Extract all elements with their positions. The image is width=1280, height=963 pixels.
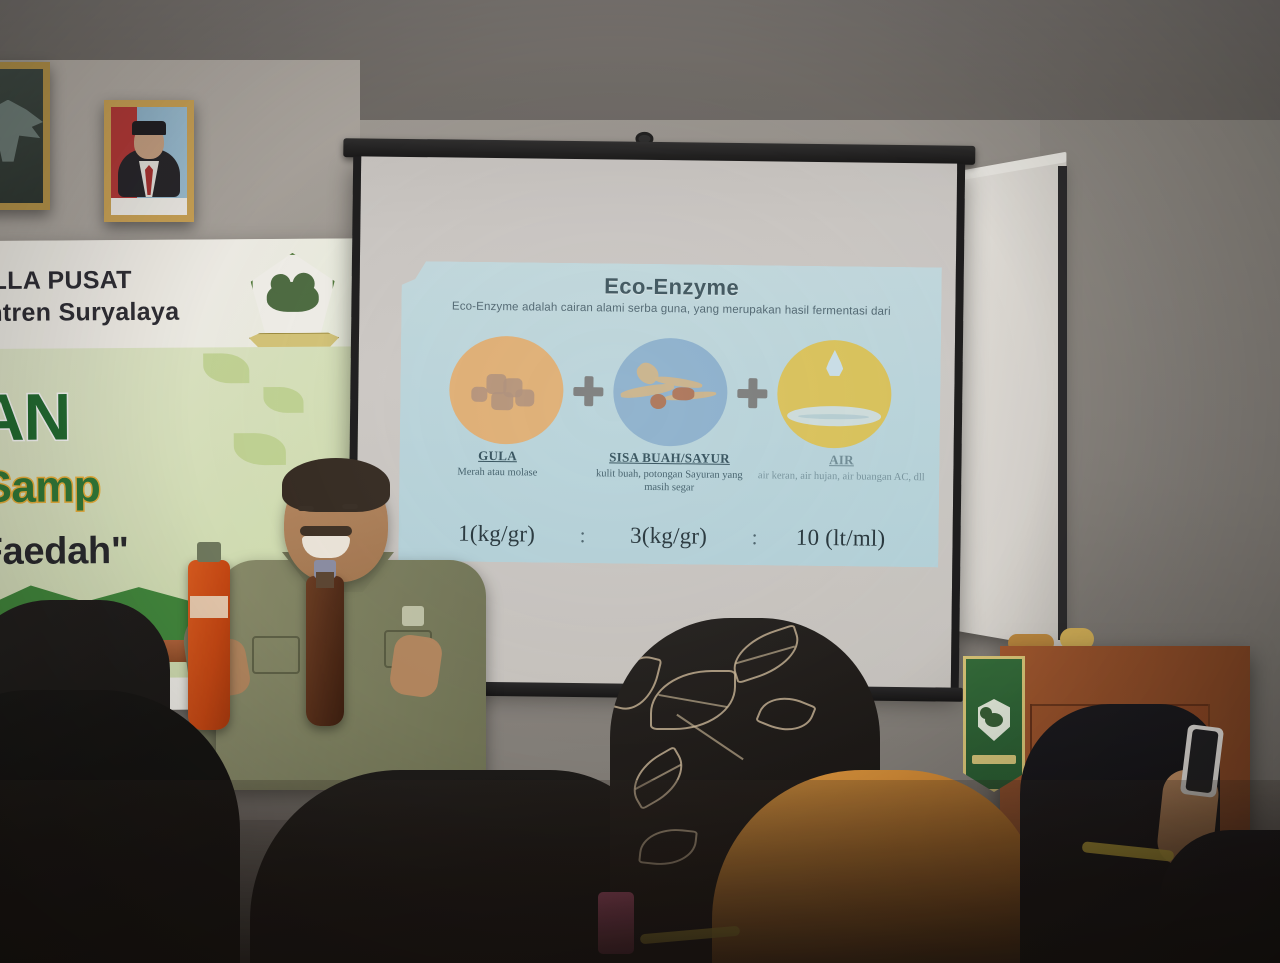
banner-leaf-decor [203, 353, 249, 383]
podium-pennant [963, 656, 1025, 792]
bottle-cap [197, 542, 221, 562]
scraps-shape [620, 374, 721, 412]
seminar-room-photo: ELLA PUSAT santren Suryalaya TIHAN ahan … [0, 0, 1280, 963]
plus-icon [573, 376, 603, 406]
banner-leaf-decor [263, 387, 303, 413]
speaker-right-hand [388, 633, 444, 699]
speaker-presenter [196, 440, 496, 780]
foreground-shadow [0, 780, 1280, 963]
ingredient-description: kulit buah, potongan Sayuran yang masih … [583, 467, 755, 495]
ingredient-name: AIR [755, 451, 927, 469]
banner-quote: Jadi Faedah" [0, 530, 129, 575]
droplet-shape [826, 350, 843, 376]
ratio-air: 10 (lt/ml) [765, 524, 915, 552]
ratio-sisa-buah-sayur: 3(kg/gr) [593, 522, 743, 550]
ingredient-description: air keran, air hujan, air buangan AC, dl… [755, 469, 927, 484]
garuda-emblem-icon [0, 100, 43, 162]
speaker-eye [298, 506, 314, 511]
songkok-cap-icon [132, 121, 166, 135]
speaker-shirt-pocket [252, 636, 300, 674]
slide-title: Eco-Enzyme [402, 271, 942, 304]
bottle-label [190, 596, 228, 618]
fruit-vegetable-scraps-icon [613, 337, 728, 446]
speaker-badge-icon [402, 606, 424, 626]
pennant-ribbon [972, 755, 1016, 764]
banner-title: TIHAN [0, 378, 71, 455]
sugar-cubes-shape [470, 368, 544, 414]
garuda-emblem-frame [0, 62, 50, 210]
ratio-separator: : [743, 525, 765, 550]
ratio-separator: : [571, 522, 593, 547]
pennant-leaf-icon [985, 713, 1003, 727]
speaker-hair [282, 458, 390, 512]
official-portrait-photo [111, 107, 187, 215]
ingredient-icon-row [400, 333, 941, 452]
banner-org-line1: ELLA PUSAT [0, 266, 132, 296]
portrait-caption [111, 198, 187, 215]
plus-icon [737, 378, 767, 408]
slide-subtitle: Eco-Enzyme adalah cairan alami serba gun… [429, 299, 913, 320]
ingredient-label-air: AIR air keran, air hujan, air buangan AC… [755, 451, 928, 519]
sugar-cubes-icon [449, 335, 564, 444]
banner-subtitle: ahan Samp [0, 462, 101, 514]
official-portrait-frame [104, 100, 194, 222]
bottle-neck [316, 572, 334, 588]
ingredient-label-sisa-buah-sayur: SISA BUAH/SAYUR kulit buah, potongan Say… [583, 449, 756, 517]
speaker-torso [216, 560, 486, 790]
speaker-mustache [300, 526, 352, 536]
banner-org-line2: santren Suryalaya [0, 298, 179, 329]
banner-logo-inner-shape [267, 281, 319, 311]
water-drop-icon [777, 339, 892, 448]
whiteboard-side-edge [1058, 166, 1067, 640]
dark-liquid-bottle [306, 576, 344, 726]
leaf-pattern-icon [755, 688, 817, 741]
orange-liquid-bottle [188, 560, 230, 730]
speaker-eye [342, 504, 358, 509]
ingredient-name: SISA BUAH/SAYUR [583, 449, 755, 467]
puddle-shape [787, 406, 881, 427]
